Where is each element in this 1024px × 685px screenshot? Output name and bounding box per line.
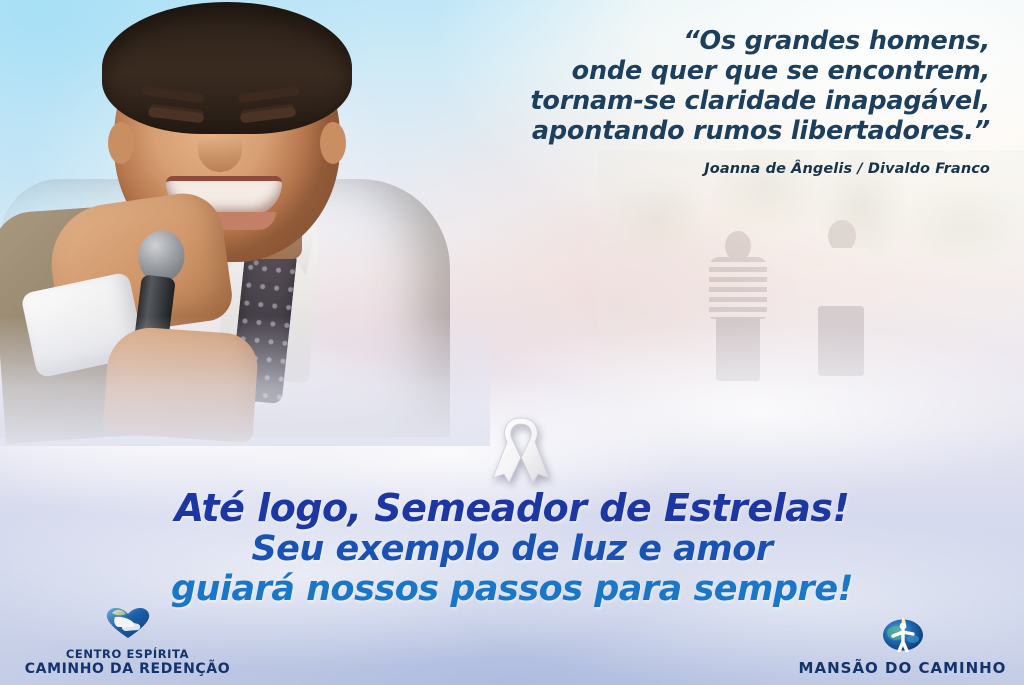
person-torso <box>709 257 767 319</box>
person-legs <box>818 306 864 376</box>
memorial-card: “Os grandes homens, onde quer que se enc… <box>0 0 1024 685</box>
quote-attribution: Joanna de Ângelis / Divaldo Franco <box>430 161 990 177</box>
logo-mansao-do-caminho: MANSÃO DO CAMINHO <box>795 612 1010 677</box>
person-striped-shirt <box>709 231 767 422</box>
headline-line-1: Até logo, Semeador de Estrelas! <box>0 487 1024 529</box>
nose <box>198 128 242 172</box>
globe-with-figure-icon <box>795 612 1010 657</box>
ear-right <box>320 122 346 164</box>
logo-right-line-1: MANSÃO DO CAMINHO <box>795 659 1010 677</box>
quote-line-4: apontando rumos libertadores.” <box>430 116 990 146</box>
ear-left <box>108 122 134 164</box>
logo-centro-espirita-caminho-da-redencao: CENTRO ESPÍRITA CAMINHO DA REDENÇÃO <box>10 604 245 677</box>
person-head <box>828 220 856 252</box>
person-legs <box>716 317 760 381</box>
portrait-bottom-fade <box>0 316 490 446</box>
background-photo-two-people-walking <box>598 150 1024 440</box>
headline-line-3: guiará nossos passos para sempre! <box>0 569 1024 609</box>
portrait-smiling-man-with-microphone <box>0 0 460 434</box>
quote-line-1: “Os grandes homens, <box>430 26 990 56</box>
person-torso <box>811 248 873 308</box>
logo-left-line-2: CAMINHO DA REDENÇÃO <box>10 661 245 677</box>
person-white-shirt <box>811 220 873 423</box>
heart-with-hands-icon <box>10 604 245 645</box>
mourning-ribbon-icon <box>487 410 555 488</box>
headline-block: Até logo, Semeador de Estrelas! Seu exem… <box>0 487 1024 609</box>
headline-line-2: Seu exemplo de luz e amor <box>0 529 1024 569</box>
quote-line-3: tornam-se claridade inapagável, <box>430 86 990 116</box>
hair <box>102 2 352 134</box>
quote-line-2: onde quer que se encontrem, <box>430 56 990 86</box>
logo-left-line-1: CENTRO ESPÍRITA <box>10 647 245 661</box>
quote-block: “Os grandes homens, onde quer que se enc… <box>430 26 990 177</box>
